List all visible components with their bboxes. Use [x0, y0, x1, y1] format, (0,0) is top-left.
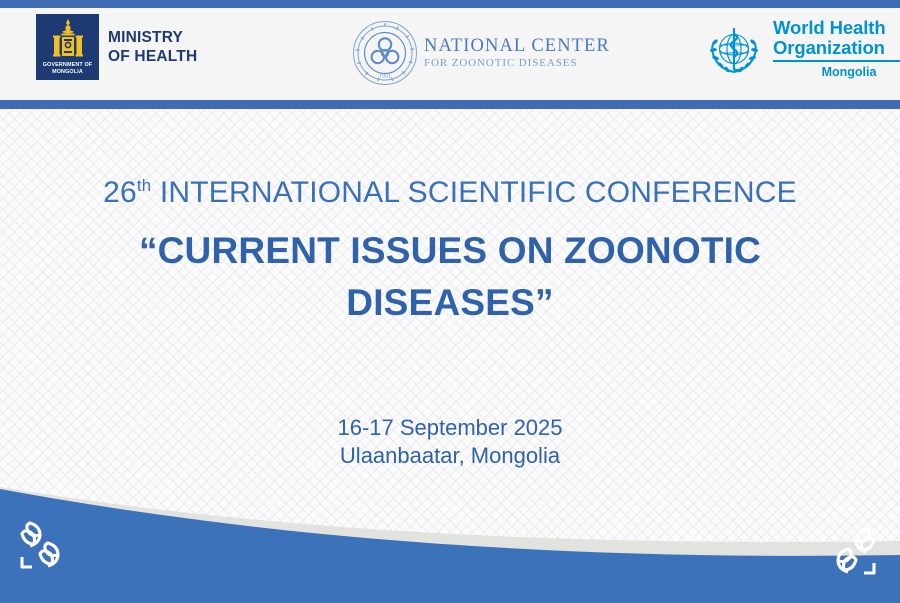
- conference-title-slide: GOVERNMENT OFMONGOLIA MINISTRY OF HEALTH: [0, 0, 900, 603]
- conference-edition-title: 26th INTERNATIONAL SCIENTIFIC CONFERENCE: [0, 173, 900, 213]
- top-accent-bar: [0, 0, 900, 8]
- nczd-line1: NATIONAL CENTER: [424, 37, 610, 56]
- crest-caption: GOVERNMENT OFMONGOLIA: [36, 62, 99, 76]
- logo-national-center-zoonotic-diseases: 1931 NATIONAL CENTER FOR ZOONOTIC DISEAS…: [352, 20, 610, 86]
- nczd-line2: FOR ZOONOTIC DISEASES: [424, 58, 610, 69]
- who-rod-of-asclepius-globe-icon: [703, 20, 765, 82]
- who-country-label: Mongolia: [773, 65, 900, 79]
- header-divider-bar: [0, 100, 900, 109]
- footer-wave-decoration: [0, 463, 900, 603]
- event-date: 16-17 September 2025: [0, 414, 900, 442]
- who-underline-rule: [773, 60, 900, 62]
- mongolia-soyombo-emblem-icon: [36, 18, 99, 62]
- biohazard-seal-icon: 1931: [352, 20, 418, 86]
- seal-year: 1931: [379, 74, 391, 80]
- who-name: World Health Organization: [773, 18, 900, 57]
- edition-number: 26: [103, 176, 137, 209]
- nczd-wordmark: NATIONAL CENTER FOR ZOONOTIC DISEASES: [424, 37, 610, 70]
- who-wordmark: World Health Organization Mongolia: [773, 18, 900, 79]
- mongolian-ulzii-knot-ornament-right: [824, 523, 882, 581]
- conference-title-rest: INTERNATIONAL SCIENTIFIC CONFERENCE: [151, 176, 797, 209]
- ministry-of-health-label: MINISTRY OF HEALTH: [108, 28, 197, 66]
- conference-theme-title: “CURRENT ISSUES ON ZOONOTIC DISEASES”: [0, 225, 900, 329]
- logo-world-health-organization: World Health Organization Mongolia: [703, 18, 900, 82]
- conference-title-block: 26th INTERNATIONAL SCIENTIFIC CONFERENCE…: [0, 173, 900, 329]
- logo-ministry-of-health: GOVERNMENT OFMONGOLIA MINISTRY OF HEALTH: [36, 14, 197, 80]
- mongolian-ulzii-knot-ornament-left: [14, 517, 72, 575]
- edition-ordinal-suffix: th: [137, 176, 151, 195]
- event-details-block: 16-17 September 2025 Ulaanbaatar, Mongol…: [0, 414, 900, 470]
- mongolia-government-crest: GOVERNMENT OFMONGOLIA: [36, 14, 99, 80]
